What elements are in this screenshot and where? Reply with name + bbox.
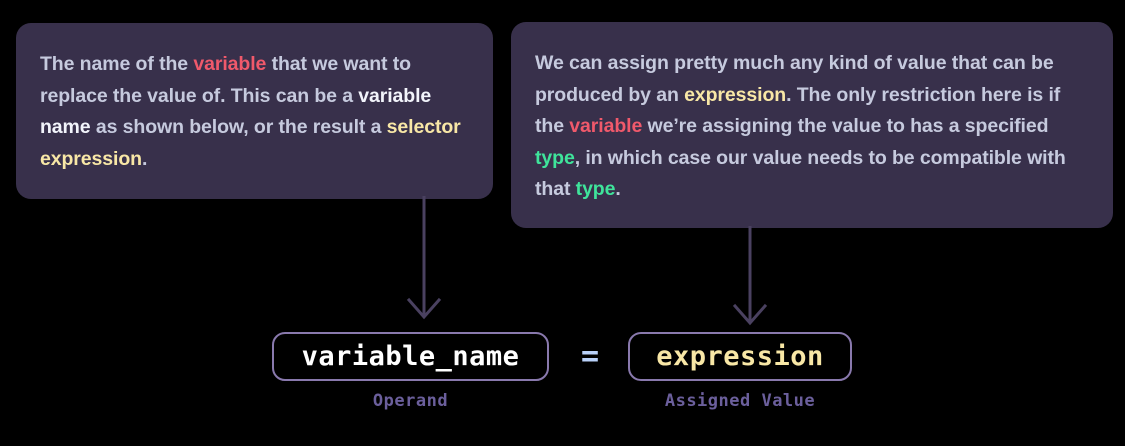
note2-keyword-type-2: type [576,178,616,200]
callout-operand-note: The name of the variable that we want to… [16,23,493,199]
callout-assigned-value-note: We can assign pretty much any kind of va… [511,22,1113,228]
assigned-value-caption: Assigned Value [628,391,852,411]
note1-seg-4: as shown below, or the result a [91,116,387,138]
note2-seg-8: . [615,178,620,200]
arrow-down-to-operand-icon [398,196,450,326]
operand-caption: Operand [272,391,549,411]
note1-seg-0: The name of the [40,53,193,75]
syntax-diagram-row: variable_name Operand = expression Assig… [0,331,1125,446]
operand-token-group: variable_name Operand [272,332,549,411]
operand-token[interactable]: variable_name [272,332,549,381]
note2-keyword-variable: variable [569,115,642,137]
assigned-value-token[interactable]: expression [628,332,852,381]
assigned-value-token-group: expression Assigned Value [628,332,852,411]
note2-seg-4: we’re assigning the value to has a speci… [642,115,1048,137]
callout-assigned-value-text: We can assign pretty much any kind of va… [535,48,1085,206]
callout-operand-text: The name of the variable that we want to… [40,49,463,175]
assignment-operator: = [566,332,614,381]
note2-keyword-expression: expression [684,84,786,106]
arrow-down-to-assigned-value-icon [724,226,776,330]
note1-keyword-variable: variable [193,53,266,75]
note2-keyword-type-1: type [535,147,575,169]
note1-seg-6: . [142,148,147,170]
